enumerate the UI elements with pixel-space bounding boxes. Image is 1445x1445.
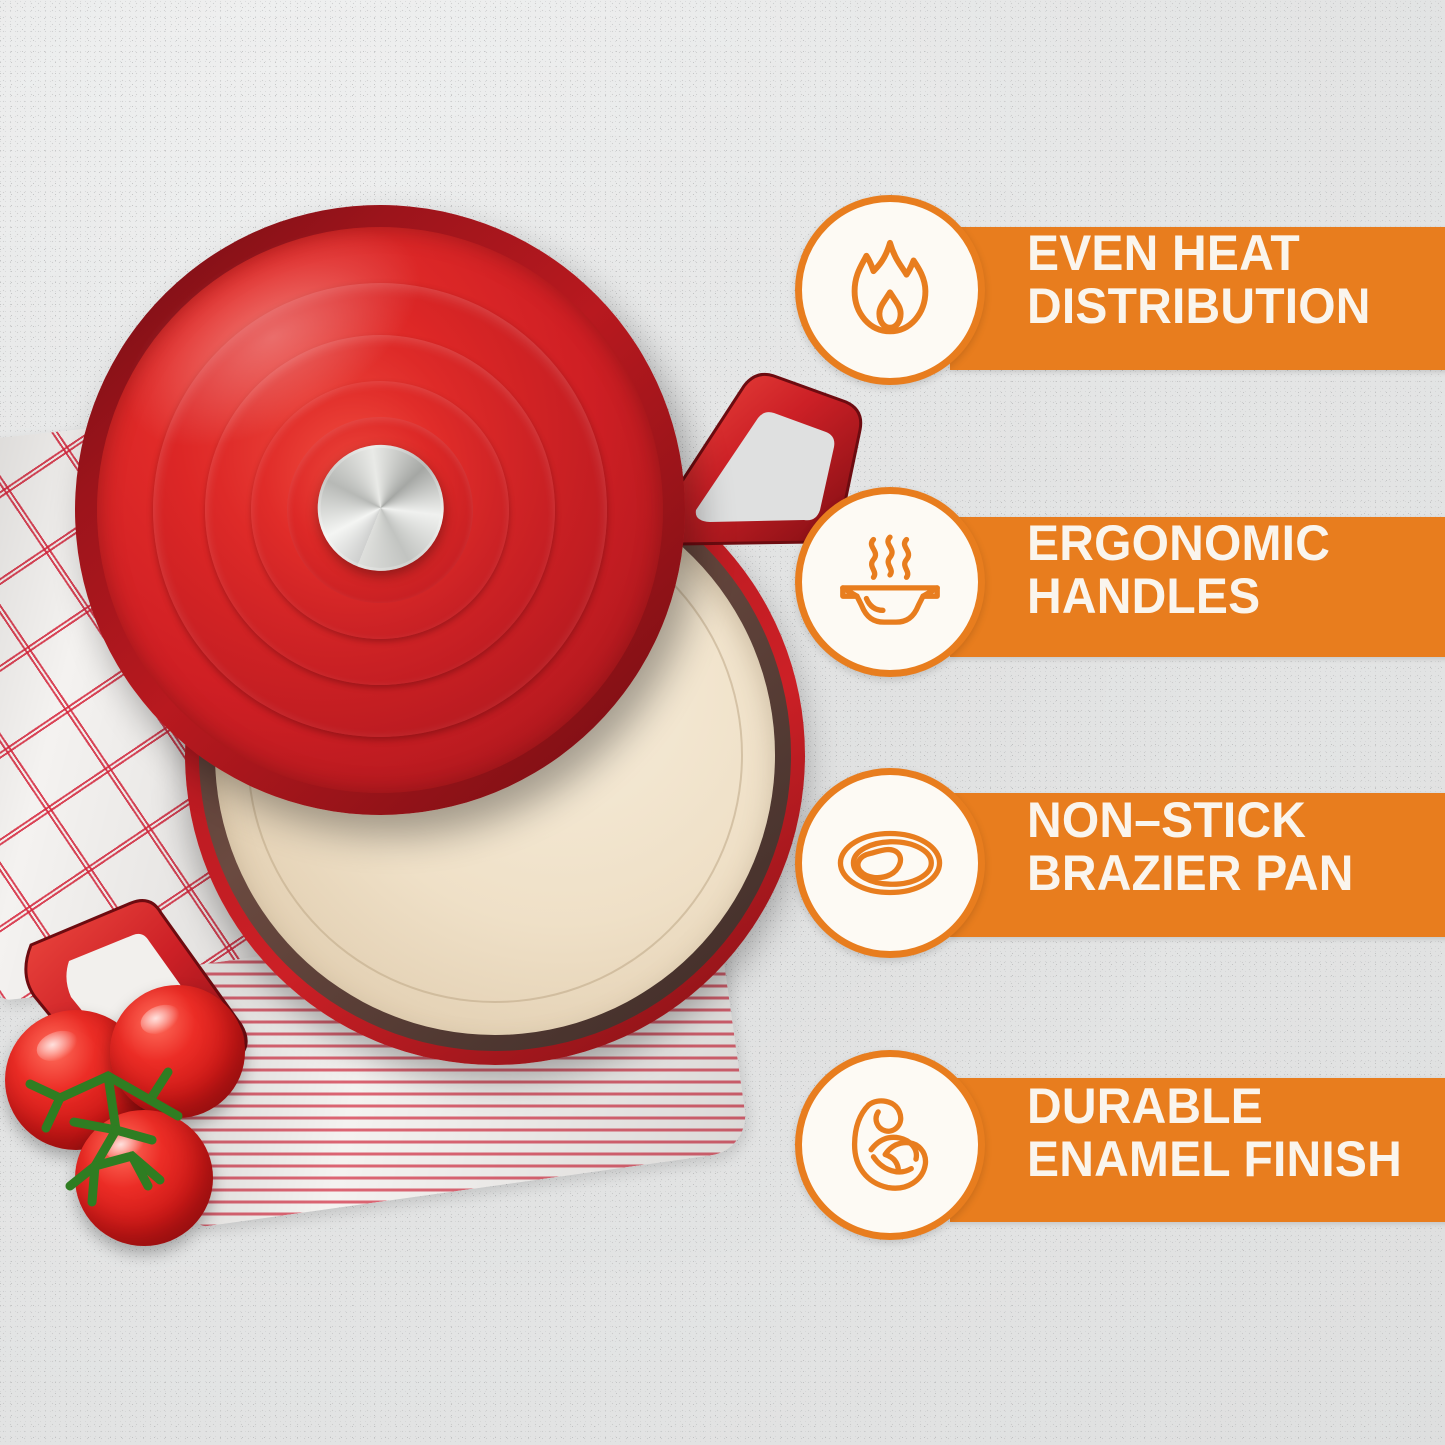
steaming-pan-icon <box>831 523 949 641</box>
feature-label: DURABLEENAMEL FINISH <box>1027 1080 1402 1186</box>
feature-icon-badge <box>795 487 985 677</box>
tomato-vine <box>0 980 300 1270</box>
feature-label: NON–STICKBRAZIER PAN <box>1027 794 1354 900</box>
feature-label-line1: ERGONOMIC <box>1027 515 1330 571</box>
feature-label-line2: BRAZIER PAN <box>1027 847 1354 900</box>
feature-label-line1: DURABLE <box>1027 1078 1263 1134</box>
flexed-bicep-icon <box>831 1086 949 1204</box>
product-feature-graphic: EVEN HEATDISTRIBUTION ERGONOMICHANDLES <box>0 0 1445 1445</box>
feature-label: ERGONOMICHANDLES <box>1027 517 1330 623</box>
feature-label-line2: DISTRIBUTION <box>1027 280 1371 333</box>
feature-icon-badge <box>795 768 985 958</box>
feature-label: EVEN HEATDISTRIBUTION <box>1027 227 1371 333</box>
feature-label-line1: EVEN HEAT <box>1027 225 1300 281</box>
feature-label-line2: HANDLES <box>1027 570 1330 623</box>
flame-icon <box>831 231 949 349</box>
feature-icon-badge <box>795 1050 985 1240</box>
feature-label-line1: NON–STICK <box>1027 792 1306 848</box>
feature-label-line2: ENAMEL FINISH <box>1027 1133 1402 1186</box>
non-stick-pan-icon <box>831 804 949 922</box>
feature-icon-badge <box>795 195 985 385</box>
